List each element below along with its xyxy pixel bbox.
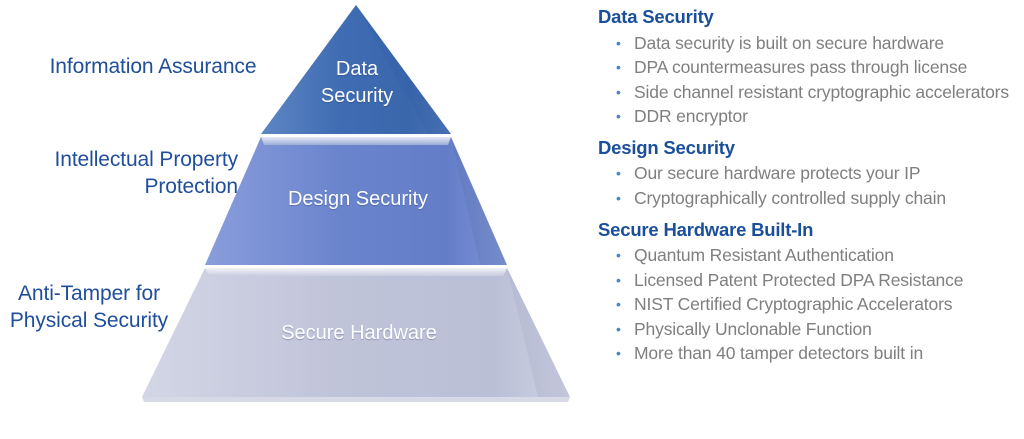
bullet-list-data-security: • Data security is built on secure hardw… [598,31,1022,129]
list-item-text: More than 40 tamper detectors built in [634,341,1022,366]
section-heading-data-security: Data Security [598,4,1022,30]
bullet-icon: • [598,161,634,186]
pyramid-base-shadow [142,397,570,402]
slide-canvas: Information Assurance Intellectual Prope… [0,0,1024,439]
bullet-list-secure-hardware: • Quantum Resistant Authentication • Lic… [598,243,1022,366]
pyramid-diagram: Data Security Design Security Secure Har… [128,0,584,410]
bullet-icon: • [598,186,634,211]
bullet-icon: • [598,31,634,56]
list-item: • Quantum Resistant Authentication [598,243,1022,268]
list-item-text: NIST Certified Cryptographic Accelerator… [634,292,1022,317]
section-heading-design-security: Design Security [598,135,1022,161]
list-item-text: Data security is built on secure hardwar… [634,31,1022,56]
bullet-icon: • [598,292,634,317]
bullet-icon: • [598,341,634,366]
list-item: • Licensed Patent Protected DPA Resistan… [598,268,1022,293]
details-column: Data Security • Data security is built o… [598,4,1022,372]
list-item-text: Physically Unclonable Function [634,317,1022,342]
section-heading-secure-hardware-built-in: Secure Hardware Built-In [598,217,1022,243]
list-item: • Side channel resistant cryptographic a… [598,80,1022,105]
pyramid-tier-2-top-edge [261,137,451,145]
pyramid-tier-3-top-edge [205,268,507,276]
section-secure-hardware-built-in: Secure Hardware Built-In • Quantum Resis… [598,217,1022,366]
list-item: • NIST Certified Cryptographic Accelerat… [598,292,1022,317]
list-item: • Our secure hardware protects your IP [598,161,1022,186]
bullet-icon: • [598,80,634,105]
list-item-text: Side channel resistant cryptographic acc… [634,80,1022,105]
bullet-icon: • [598,55,634,80]
section-design-security: Design Security • Our secure hardware pr… [598,135,1022,211]
section-data-security: Data Security • Data security is built o… [598,4,1022,129]
bullet-icon: • [598,243,634,268]
list-item: • More than 40 tamper detectors built in [598,341,1022,366]
pyramid-label-design-security: Design Security [234,186,482,213]
bullet-list-design-security: • Our secure hardware protects your IP •… [598,161,1022,210]
list-item: • Cryptographically controlled supply ch… [598,186,1022,211]
bullet-icon: • [598,104,634,129]
pyramid-label-secure-hardware: Secure Hardware [200,320,518,347]
list-item-text: Cryptographically controlled supply chai… [634,186,1022,211]
list-item-text: Quantum Resistant Authentication [634,243,1022,268]
list-item: • Data security is built on secure hardw… [598,31,1022,56]
pyramid-label-data-security: Data Security [296,56,418,110]
bullet-icon: • [598,268,634,293]
list-item-text: DPA countermeasures pass through license [634,55,1022,80]
list-item: • DPA countermeasures pass through licen… [598,55,1022,80]
list-item-text: DDR encryptor [634,104,1022,129]
list-item-text: Licensed Patent Protected DPA Resistance [634,268,1022,293]
list-item-text: Our secure hardware protects your IP [634,161,1022,186]
bullet-icon: • [598,317,634,342]
list-item: • Physically Unclonable Function [598,317,1022,342]
list-item: • DDR encryptor [598,104,1022,129]
